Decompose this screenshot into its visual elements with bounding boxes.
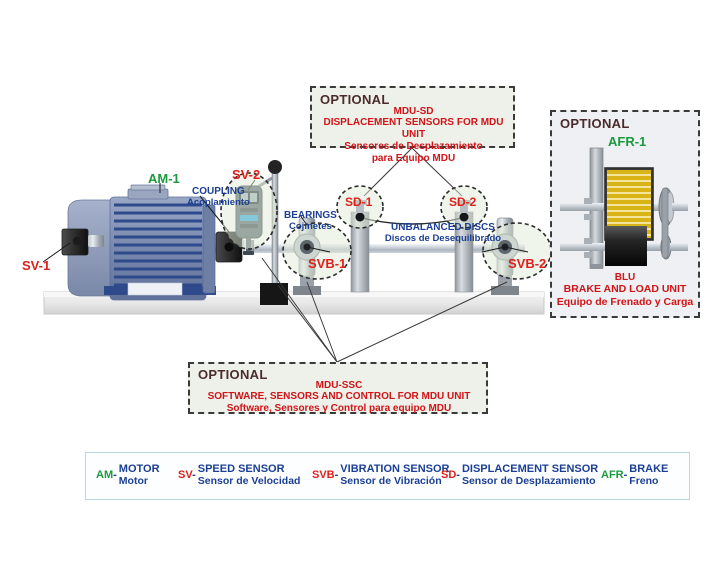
legend-code-svb-prefix: SVB	[312, 469, 335, 481]
label-bearings-en: BEARINGS	[284, 210, 337, 221]
label-bearings-es: Cojinetes	[284, 221, 337, 232]
legend-code-am: AM-	[96, 469, 117, 481]
legend-item-am: AM- MOTOR Motor	[96, 463, 160, 487]
legend-code-sd: SD-	[441, 469, 460, 481]
legend-panel: AM- MOTOR Motor SV- SPEED SENSOR Sensor …	[85, 452, 690, 500]
tag-svb1: SVB-1	[308, 256, 346, 271]
label-coupling-es: Acoplamiento	[187, 197, 250, 208]
legend-code-am-suffix: -	[113, 469, 117, 481]
tag-am1: AM-1	[148, 171, 180, 186]
blu-optional-label: OPTIONAL	[560, 116, 692, 131]
legend-code-sv: SV-	[178, 469, 196, 481]
legend-code-svb: SVB-	[312, 469, 338, 481]
legend-code-sv-prefix: SV	[178, 469, 192, 481]
legend-en-sd: DISPLACEMENT SENSOR	[462, 463, 598, 475]
mdu-ssc-name-es: Software, Sensores y Control para equipo…	[198, 403, 480, 415]
tag-sd2: SD-2	[449, 195, 476, 209]
optional-box-mdu-sd: OPTIONAL MDU-SD DISPLACEMENT SENSORS FOR…	[310, 86, 515, 148]
blu-name-en: BRAKE AND LOAD UNIT	[552, 283, 698, 296]
legend-code-am-prefix: AM	[96, 469, 113, 481]
legend-code-afr-suffix: -	[624, 469, 628, 481]
tag-svb2: SVB-2	[508, 256, 546, 271]
legend-code-afr-prefix: AFR	[601, 469, 624, 481]
legend-code-sd-prefix: SD	[441, 469, 456, 481]
legend-en-sv: SPEED SENSOR	[198, 463, 301, 475]
optional-box-mdu-ssc: OPTIONAL MDU-SSC SOFTWARE, SENSORS AND C…	[188, 362, 488, 414]
mdu-sd-name-es-1: Sensores de Desplazamiento	[320, 141, 507, 153]
tag-afr1: AFR-1	[608, 134, 646, 149]
mdu-sd-name-en: DISPLACEMENT SENSORS FOR MDU UNIT	[320, 117, 507, 141]
legend-es-sv: Sensor de Velocidad	[198, 475, 301, 487]
label-coupling-en: COUPLING	[187, 186, 250, 197]
blu-illustration	[556, 148, 698, 270]
legend-code-svb-suffix: -	[335, 469, 339, 481]
blu-name-es: Equipo de Frenado y Carga	[552, 296, 698, 309]
legend-item-sd: SD- DISPLACEMENT SENSOR Sensor de Despla…	[441, 463, 598, 487]
legend-item-afr: AFR- BRAKE Freno	[601, 463, 668, 487]
tag-sv2: SV-2	[232, 167, 260, 182]
legend-item-svb: SVB- VIBRATION SENSOR Sensor de Vibració…	[312, 463, 450, 487]
legend-code-sv-suffix: -	[192, 469, 196, 481]
mdu-sd-optional-label: OPTIONAL	[320, 92, 507, 107]
legend-item-sv: SV- SPEED SENSOR Sensor de Velocidad	[178, 463, 300, 487]
legend-es-sd: Sensor de Desplazamiento	[462, 475, 598, 487]
label-discs-en: UNBALANCED DISCS	[378, 222, 508, 233]
blu-code: BLU	[552, 272, 698, 283]
label-bearings: BEARINGS Cojinetes	[284, 210, 337, 232]
mdu-sd-code: MDU-SD	[320, 106, 507, 117]
legend-en-am: MOTOR	[119, 463, 160, 475]
legend-code-sd-suffix: -	[456, 469, 460, 481]
legend-es-svb: Sensor de Vibración	[340, 475, 449, 487]
legend-es-afr: Freno	[629, 475, 668, 487]
label-discs-es: Discos de Desequilibrado	[378, 233, 508, 244]
legend-es-am: Motor	[119, 475, 160, 487]
legend-code-afr: AFR-	[601, 469, 627, 481]
halo-sv2	[221, 173, 277, 249]
label-coupling: COUPLING Acoplamiento	[187, 186, 250, 208]
tag-sv1: SV-1	[22, 258, 50, 273]
optional-box-blu: OPTIONAL AFR-1	[550, 110, 700, 318]
legend-en-afr: BRAKE	[629, 463, 668, 475]
tag-sd1: SD-1	[345, 195, 372, 209]
label-unbalanced-discs: UNBALANCED DISCS Discos de Desequilibrad…	[378, 222, 508, 244]
legend-en-svb: VIBRATION SENSOR	[340, 463, 449, 475]
mdu-sd-name-es-2: para Equipo MDU	[320, 153, 507, 165]
mdu-ssc-name-en: SOFTWARE, SENSORS AND CONTROL FOR MDU UN…	[198, 391, 480, 403]
